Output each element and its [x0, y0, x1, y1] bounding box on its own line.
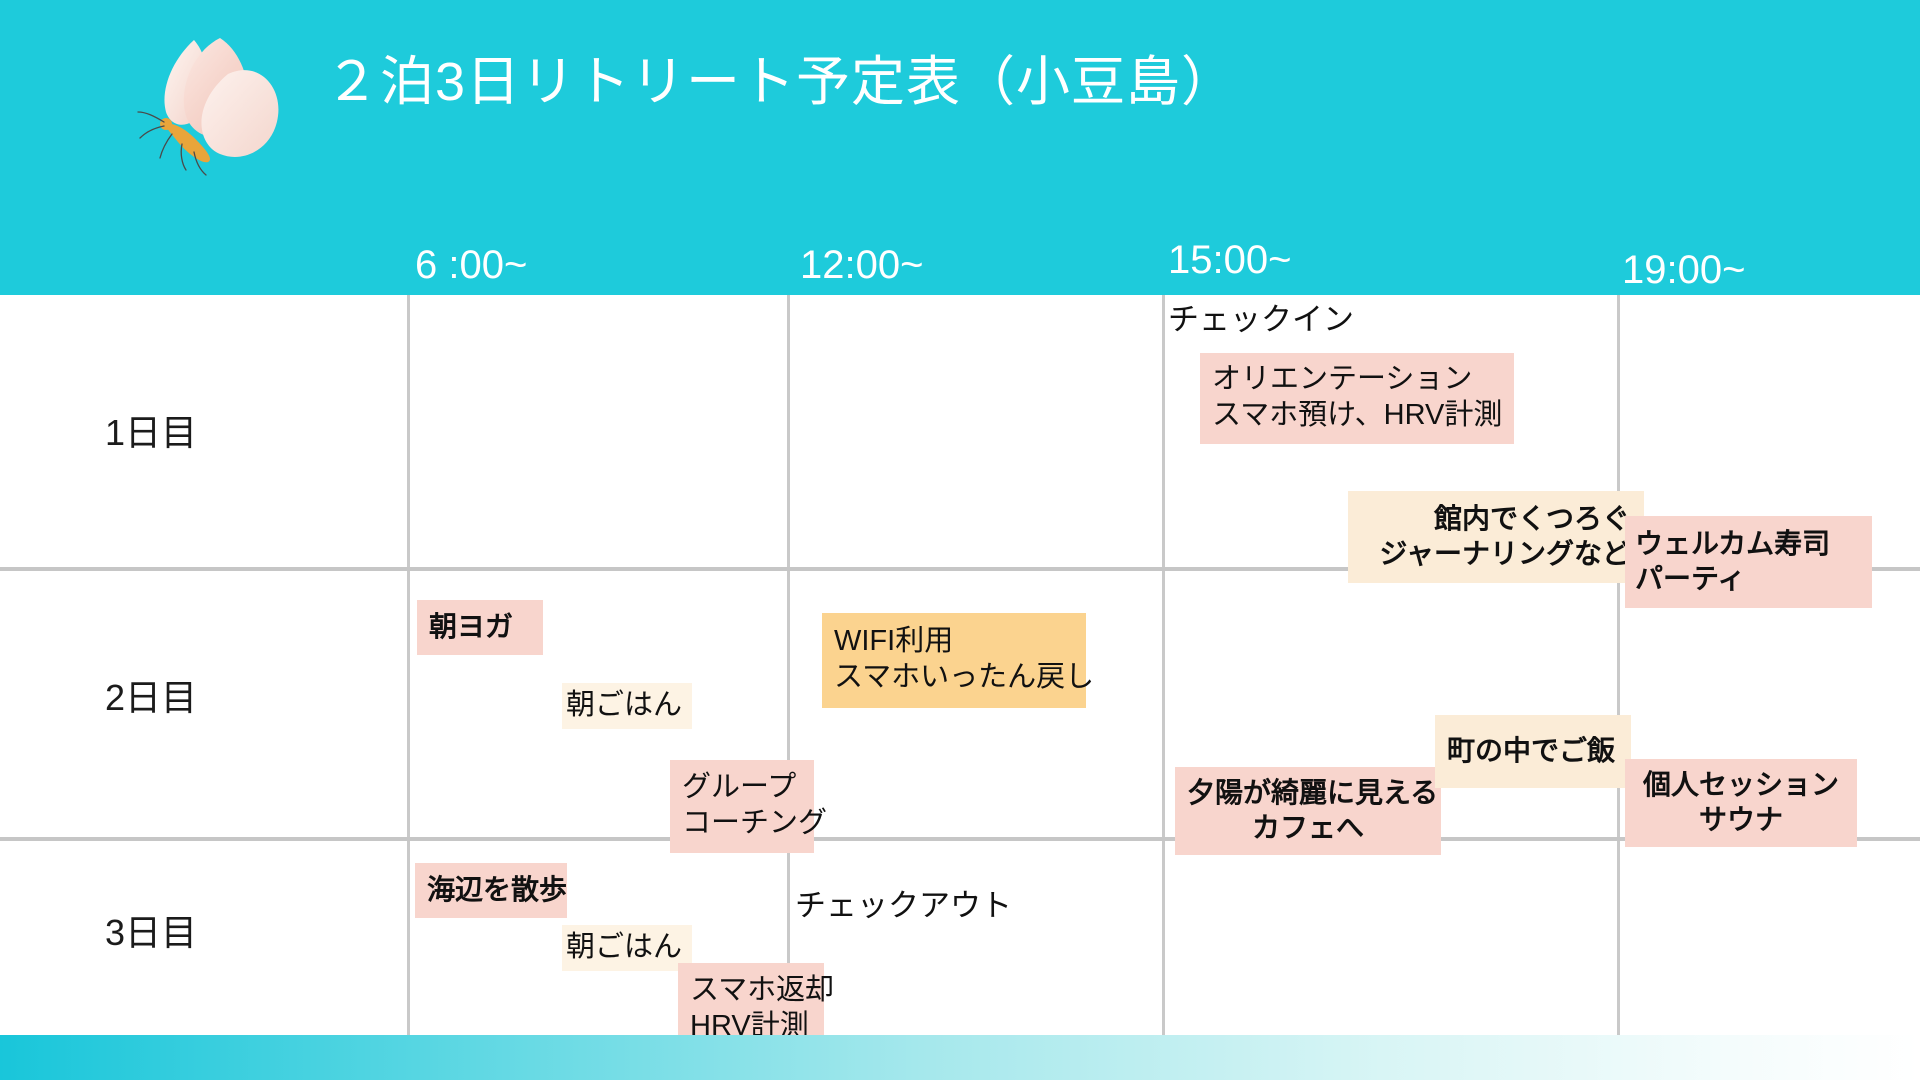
time-header-0: 6 :00~: [415, 245, 527, 285]
time-header-3: 19:00~: [1622, 250, 1745, 290]
bottom-gradient-bar: [0, 1035, 1920, 1080]
time-header-2: 15:00~: [1168, 240, 1291, 280]
day-label-1: 1日目: [105, 415, 197, 451]
time-header-1: 12:00~: [800, 245, 923, 285]
event-town-dinner[interactable]: 町の中でご飯: [1435, 715, 1631, 788]
header-band: ２泊3日リトリート予定表（小豆島） 6 :00~ 12:00~ 15:00~ 1…: [0, 0, 1920, 295]
event-checkout[interactable]: チェックアウト: [795, 887, 1012, 926]
day-label-3: 3日目: [105, 915, 197, 951]
schedule-grid: 1日目 2日目 3日目 チェックイン オリエンテーション スマホ預け、HRV計測…: [0, 295, 1920, 1035]
event-orientation[interactable]: オリエンテーション スマホ預け、HRV計測: [1200, 353, 1514, 444]
event-morning-yoga[interactable]: 朝ヨガ: [417, 600, 543, 655]
event-wifi-window[interactable]: WIFI利用 スマホいったん戻し: [822, 613, 1086, 708]
day-label-2: 2日目: [105, 680, 197, 716]
grid-vline-3: [1617, 295, 1620, 1035]
grid-vline-0: [407, 295, 410, 1035]
grid-vline-1: [787, 295, 790, 1035]
event-seaside-walk[interactable]: 海辺を散歩: [415, 863, 567, 918]
event-checkin[interactable]: チェックイン: [1168, 301, 1354, 340]
event-private-session[interactable]: 個人セッション サウナ: [1625, 759, 1857, 847]
event-welcome-sushi[interactable]: ウェルカム寿司 パーティ: [1625, 516, 1872, 608]
event-breakfast-day3[interactable]: 朝ごはん: [562, 925, 692, 971]
event-group-coaching[interactable]: グループ コーチング: [670, 760, 814, 853]
event-relax-journaling[interactable]: 館内でくつろぐ ジャーナリングなど: [1348, 491, 1644, 583]
event-breakfast-day2[interactable]: 朝ごはん: [562, 683, 692, 729]
grid-vline-2: [1162, 295, 1165, 1035]
butterfly-icon: [132, 12, 302, 182]
event-sunset-cafe[interactable]: 夕陽が綺麗に見える カフェへ: [1175, 767, 1441, 855]
page-title: ２泊3日リトリート予定表（小豆島）: [325, 55, 1236, 109]
